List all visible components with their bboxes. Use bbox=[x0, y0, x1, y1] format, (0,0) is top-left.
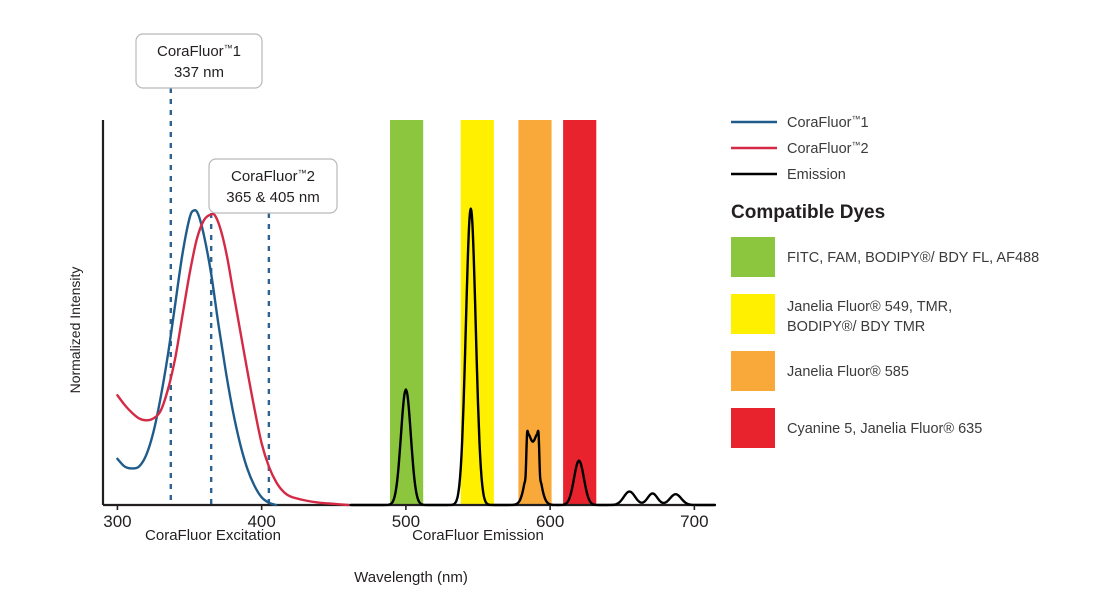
fluorescence-spectra-figure: 300400500600700 CoraFluor Excitation Cor… bbox=[0, 0, 1110, 612]
dye-label-3-line1: Cyanine 5, Janelia Fluor® 635 bbox=[787, 421, 982, 437]
dye-label-0-line1: FITC, FAM, BODIPY®/ BDY FL, AF488 bbox=[787, 250, 1039, 266]
emission-region-label: CoraFluor Emission bbox=[412, 527, 544, 544]
orange-band bbox=[518, 120, 551, 505]
legend-series-group: CoraFluor™1CoraFluor™2Emission bbox=[731, 114, 869, 183]
x-tick-label-700: 700 bbox=[680, 512, 708, 531]
x-axis-title: Wavelength (nm) bbox=[354, 569, 468, 586]
callout-cora2: CoraFluor™2 365 & 405 nm bbox=[209, 159, 337, 213]
callout-cora1: CoraFluor™1 337 nm bbox=[136, 34, 262, 88]
legend-label-2: Emission bbox=[787, 167, 846, 183]
y-axis-title: Normalized Intensity bbox=[67, 267, 83, 394]
dye-swatch-1 bbox=[731, 294, 775, 334]
callout-cora1-line2: 337 nm bbox=[174, 64, 224, 81]
chart-canvas: 300400500600700 CoraFluor Excitation Cor… bbox=[0, 0, 1110, 612]
red-band bbox=[563, 120, 596, 505]
filter-bands-group bbox=[390, 120, 596, 505]
x-tick-label-300: 300 bbox=[103, 512, 131, 531]
curve-cora1 bbox=[117, 210, 276, 505]
dye-swatch-3 bbox=[731, 408, 775, 448]
legend-dyes-group: FITC, FAM, BODIPY®/ BDY FL, AF488Janelia… bbox=[731, 237, 1039, 448]
curve-cora2 bbox=[117, 214, 348, 505]
dye-swatch-2 bbox=[731, 351, 775, 391]
dye-label-2-line1: Janelia Fluor® 585 bbox=[787, 364, 909, 380]
dye-label-1-line1: Janelia Fluor® 549, TMR, bbox=[787, 299, 952, 315]
green-band bbox=[390, 120, 423, 505]
dye-label-1-line2: BODIPY®/ BDY TMR bbox=[787, 319, 925, 335]
compatible-dyes-heading: Compatible Dyes bbox=[731, 202, 885, 223]
dye-swatch-0 bbox=[731, 237, 775, 277]
excitation-region-label: CoraFluor Excitation bbox=[145, 527, 281, 544]
callout-cora2-line2: 365 & 405 nm bbox=[226, 189, 319, 206]
legend-label-0: CoraFluor™1 bbox=[787, 114, 869, 131]
legend-label-1: CoraFluor™2 bbox=[787, 140, 869, 157]
